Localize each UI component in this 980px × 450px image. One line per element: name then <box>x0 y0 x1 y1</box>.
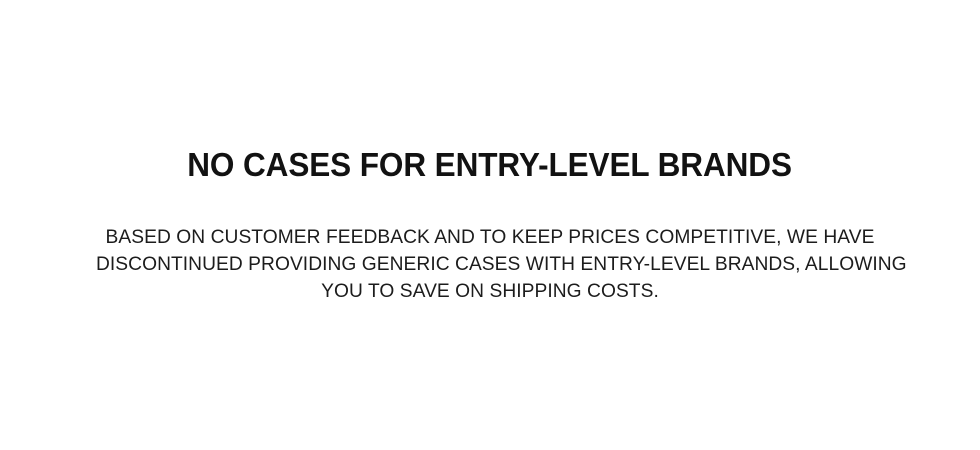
banner-description: BASED ON CUSTOMER FEEDBACK AND TO KEEP P… <box>96 224 884 305</box>
description-line-2: DISCONTINUED PROVIDING GENERIC CASES WIT… <box>96 251 884 278</box>
description-line-1: BASED ON CUSTOMER FEEDBACK AND TO KEEP P… <box>96 224 884 251</box>
banner-content: NO CASES FOR ENTRY-LEVEL BRANDS BASED ON… <box>0 148 980 305</box>
page-title: NO CASES FOR ENTRY-LEVEL BRANDS <box>188 148 793 182</box>
description-line-3: YOU TO SAVE ON SHIPPING COSTS. <box>96 278 884 305</box>
promo-banner: NO CASES FOR ENTRY-LEVEL BRANDS BASED ON… <box>0 0 980 450</box>
